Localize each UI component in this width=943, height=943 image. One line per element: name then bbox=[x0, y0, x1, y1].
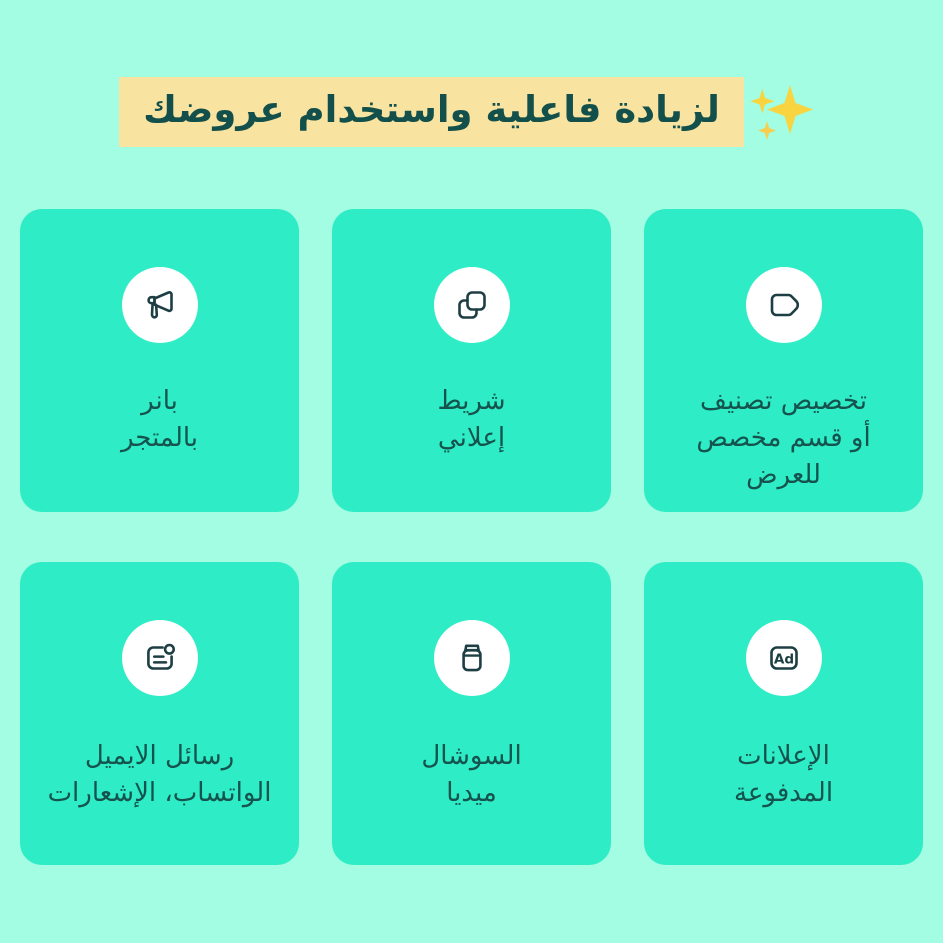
feature-card-label: بانر بالمتجر bbox=[103, 383, 216, 457]
feature-card-paid-ads[interactable]: Ad الإعلانات المدفوعة bbox=[644, 562, 923, 865]
feature-card-grid: تخصيص تصنيف أو قسم مخصص للعرض شريط إعلان… bbox=[20, 209, 923, 865]
feature-card-label: السوشال ميديا bbox=[403, 738, 539, 812]
feature-card-store-banner[interactable]: بانر بالمتجر bbox=[20, 209, 299, 512]
svg-text:Ad: Ad bbox=[773, 651, 793, 667]
feature-card-announcement-bar[interactable]: شريط إعلاني bbox=[332, 209, 611, 512]
sparkles-icon bbox=[744, 77, 822, 147]
megaphone-icon bbox=[122, 267, 198, 343]
feature-card-label: رسائل الايميل الواتساب، الإشعارات bbox=[30, 738, 290, 812]
message-notification-icon bbox=[122, 620, 198, 696]
feature-card-label: تخصيص تصنيف أو قسم مخصص للعرض bbox=[678, 383, 888, 494]
tag-icon bbox=[746, 267, 822, 343]
layers-copy-icon bbox=[434, 267, 510, 343]
feature-card-tag[interactable]: تخصيص تصنيف أو قسم مخصص للعرض bbox=[644, 209, 923, 512]
feature-card-messages[interactable]: رسائل الايميل الواتساب، الإشعارات bbox=[20, 562, 299, 865]
feature-card-social-media[interactable]: السوشال ميديا bbox=[332, 562, 611, 865]
feature-card-label: شريط إعلاني bbox=[419, 383, 523, 457]
poster-canvas: لزيادة فاعلية واستخدام عروضك تخصيص تصنيف… bbox=[0, 0, 943, 943]
jar-icon bbox=[434, 620, 510, 696]
feature-card-label: الإعلانات المدفوعة bbox=[716, 738, 851, 812]
header: لزيادة فاعلية واستخدام عروضك bbox=[0, 62, 943, 162]
ad-badge-icon: Ad bbox=[746, 620, 822, 696]
page-title: لزيادة فاعلية واستخدام عروضك bbox=[119, 77, 744, 147]
